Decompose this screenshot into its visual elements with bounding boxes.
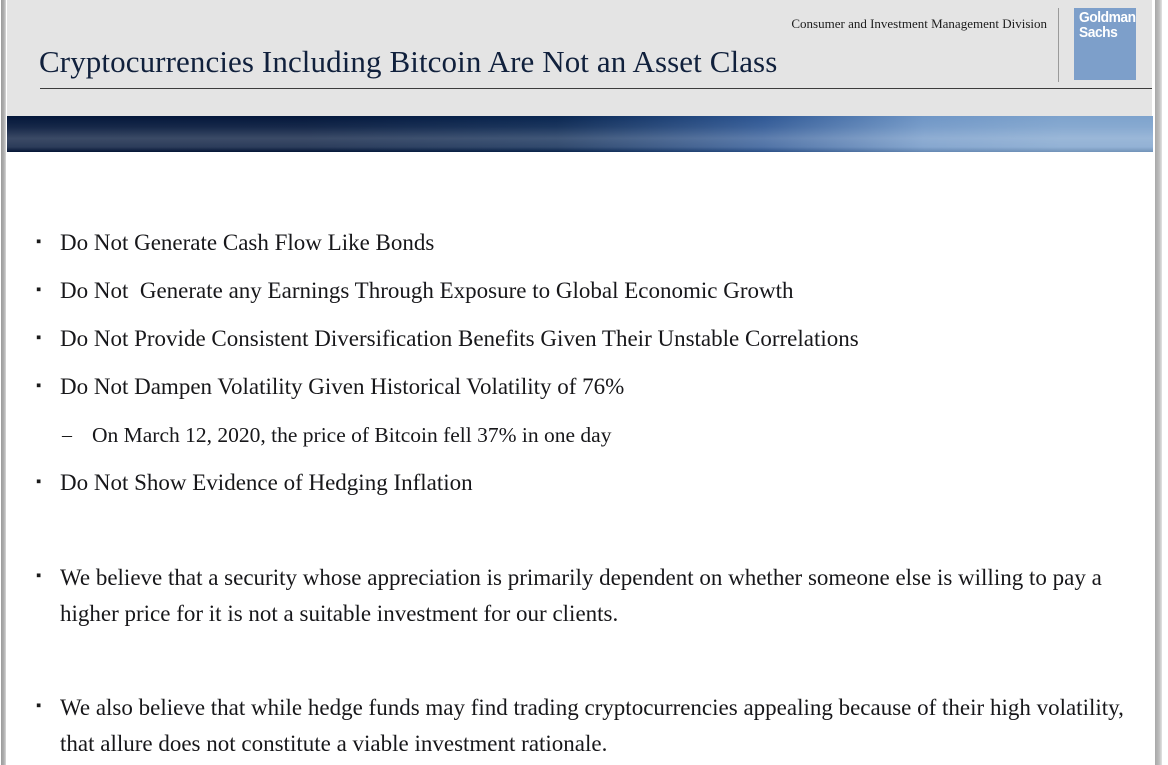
brand-vertical-divider	[1058, 8, 1059, 82]
header-divider-rule	[40, 88, 1152, 89]
presentation-slide: Cryptocurrencies Including Bitcoin Are N…	[0, 0, 1168, 765]
square-bullet-icon: ▪	[36, 371, 60, 402]
list-item-label: Do Not Show Evidence of Hedging Inflatio…	[60, 467, 473, 498]
brand-block: Consumer and Investment Management Divis…	[791, 8, 1136, 82]
list-item-label: Do Not Provide Consistent Diversificatio…	[60, 323, 859, 354]
statement-paragraph-text: We also believe that while hedge funds m…	[60, 690, 1150, 762]
list-item: ▪ Do Not Show Evidence of Hedging Inflat…	[36, 467, 473, 498]
list-item: ▪ Do Not Generate any Earnings Through E…	[36, 275, 793, 306]
dash-bullet-icon: –	[62, 420, 92, 450]
statement-paragraph: ▪ We believe that a security whose appre…	[36, 560, 1156, 632]
division-name: Consumer and Investment Management Divis…	[791, 8, 1058, 33]
list-item: ▪ Do Not Provide Consistent Diversificat…	[36, 323, 859, 354]
square-bullet-icon: ▪	[36, 560, 60, 593]
square-bullet-icon: ▪	[36, 227, 60, 258]
goldman-sachs-logo: Goldman Sachs	[1074, 8, 1136, 80]
list-item-label: Do Not Dampen Volatility Given Historica…	[60, 371, 624, 402]
square-bullet-icon: ▪	[36, 467, 60, 498]
square-bullet-icon: ▪	[36, 323, 60, 354]
slide-header: Cryptocurrencies Including Bitcoin Are N…	[7, 0, 1152, 116]
slide-right-border	[1152, 0, 1168, 765]
header-accent-bar	[7, 116, 1153, 152]
slide-left-border	[0, 0, 7, 765]
square-bullet-icon: ▪	[36, 690, 60, 723]
statement-paragraph: ▪ We also believe that while hedge funds…	[36, 690, 1156, 762]
list-item-label: Do Not Generate Cash Flow Like Bonds	[60, 227, 434, 258]
sub-list-item: – On March 12, 2020, the price of Bitcoi…	[62, 420, 611, 450]
statement-paragraph-text: We believe that a security whose appreci…	[60, 560, 1150, 632]
sub-list-item-label: On March 12, 2020, the price of Bitcoin …	[92, 420, 611, 450]
list-item: ▪ Do Not Dampen Volatility Given Histori…	[36, 371, 624, 402]
goldman-sachs-logo-text: Goldman Sachs	[1079, 11, 1136, 40]
square-bullet-icon: ▪	[36, 275, 60, 306]
list-item: ▪ Do Not Generate Cash Flow Like Bonds	[36, 227, 434, 258]
list-item-label: Do Not Generate any Earnings Through Exp…	[60, 275, 793, 306]
